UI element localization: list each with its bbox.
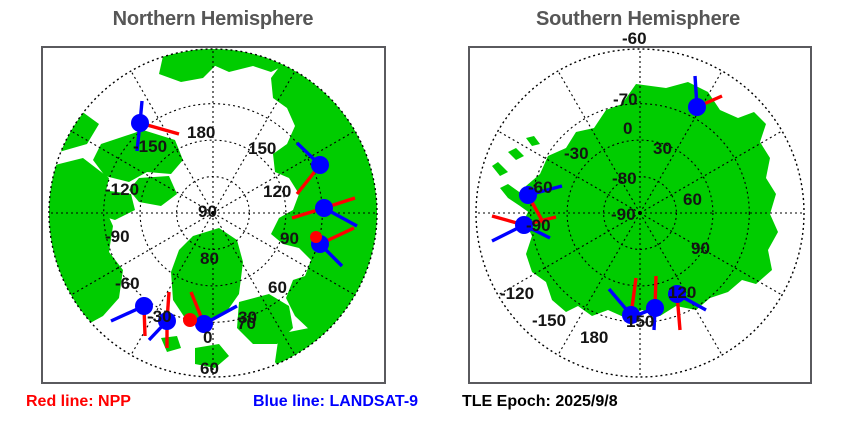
lon-label-north-neg30: -30 [147, 308, 172, 325]
lon-label-north-120: 120 [263, 183, 291, 200]
lon-label-south-150: 150 [626, 313, 654, 330]
lat-label-south-neg60-outer: -60 [622, 30, 647, 47]
lat-label-north-70: 70 [237, 315, 256, 332]
legend-red-line: Red line: NPP [26, 393, 131, 411]
lon-label-south-neg150: -150 [532, 312, 566, 329]
lat-label-north-60: 60 [200, 360, 219, 377]
lon-label-south-180: 180 [580, 329, 608, 346]
lon-label-north-60: 60 [268, 279, 287, 296]
lat-label-south-neg70: -70 [613, 91, 638, 108]
lat-label-north-90: 90 [198, 203, 217, 220]
legend-blue-line: Blue line: LANDSAT-9 [253, 393, 418, 411]
lat-label-south-neg90: -90 [611, 206, 636, 223]
lat-label-north-80: 80 [200, 250, 219, 267]
lon-label-south-30: 30 [653, 140, 672, 157]
plot-frame-south: 0 30 60 90 120 150 180 -150 -120 -90 -60… [468, 46, 812, 384]
lon-label-south-120: 120 [668, 284, 696, 301]
lon-label-south-0: 0 [623, 120, 632, 137]
lon-label-south-neg30: -30 [564, 145, 589, 162]
lon-label-north-neg150: -150 [133, 138, 167, 155]
lon-label-north-90: 90 [280, 230, 299, 247]
page-title-north: Northern Hemisphere [0, 8, 426, 31]
plot-frame-north: 180 150 120 90 60 30 0 -30 -60 -90 -120 … [41, 46, 386, 384]
lon-label-north-neg120: -120 [105, 181, 139, 198]
lon-label-south-neg60: -60 [528, 179, 553, 196]
page-title-south: Southern Hemisphere [426, 8, 850, 31]
lon-label-north-180: 180 [187, 124, 215, 141]
panel-northern-hemisphere: Northern Hemisphere [0, 0, 426, 425]
legend-tle-epoch: TLE Epoch: 2025/9/8 [462, 393, 618, 411]
lon-label-south-neg90: -90 [526, 217, 551, 234]
lon-label-south-neg120: -120 [500, 285, 534, 302]
lon-label-south-60: 60 [683, 191, 702, 208]
lon-label-north-neg60: -60 [115, 275, 140, 292]
polar-plot-south [470, 48, 810, 382]
lat-label-south-neg80: -80 [612, 170, 637, 187]
lon-label-north-0: 0 [203, 329, 212, 346]
lon-label-north-150: 150 [248, 140, 276, 157]
lon-label-south-90: 90 [691, 240, 710, 257]
panel-southern-hemisphere: Southern Hemisphere -60 [426, 0, 850, 425]
lon-label-north-neg90: -90 [105, 228, 130, 245]
